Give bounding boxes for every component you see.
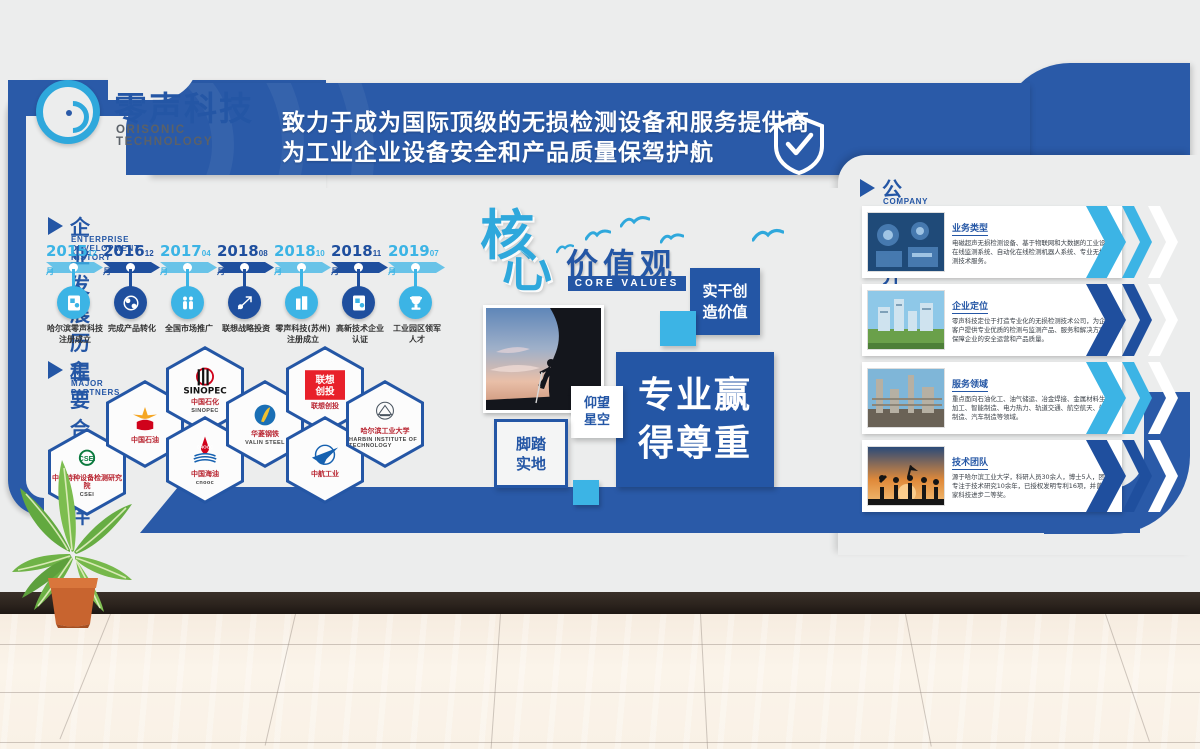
profile-card-heading: 企业定位 — [952, 299, 988, 314]
header-slogan: 致力于成为国际顶级的无损检测设备和服务提供商 为工业企业设备安全和产品质量保驾护… — [282, 108, 810, 168]
timeline-item: 201907月工业园区领军人才 — [388, 243, 445, 279]
gear-cycle-icon — [114, 286, 147, 319]
value-box-jiaota: 脚踏实地 — [494, 419, 568, 488]
svg-text:创投: 创投 — [314, 386, 335, 398]
value-box-zhuanye: 专业赢得尊重 — [616, 352, 774, 487]
value-box-jiaota-text: 脚踏实地 — [516, 434, 546, 474]
value-box-yangwang-text: 仰望星空 — [584, 395, 610, 429]
profile-card-heading: 技术团队 — [952, 455, 988, 470]
value-box-yangwang: 仰望星空 — [571, 386, 623, 438]
bird-icon — [660, 232, 684, 245]
timeline-item: 201612月完成产品转化 — [103, 243, 160, 279]
growth-arrow-icon — [228, 286, 261, 319]
slogan-line-1: 致力于成为国际顶级的无损检测设备和服务提供商 — [282, 108, 810, 138]
partner-name-en: VALIN STEEL — [245, 440, 285, 446]
profile-card-body: 重点面向石油化工、油气储运、冶金焊接、金属材料生产加工、智能制造、电力热力、轨道… — [952, 395, 1117, 422]
timeline-item: 201811月高新技术企业认证 — [331, 243, 388, 279]
profile-card-body: 电磁超声无损检测设备、基于物联网和大数据的工业设施在线监测系统、自动化在线检测机… — [952, 239, 1117, 266]
partner-name-en: HARBIN INSTITUTE OF TECHNOLOGY — [349, 437, 421, 449]
slogan-line-2: 为工业企业设备安全和产品质量保驾护航 — [282, 138, 810, 168]
timeline-label: 工业园区领军人才 — [380, 323, 454, 345]
bird-icon — [585, 228, 611, 242]
timeline-item: 201808月联想战略投资 — [217, 243, 274, 279]
cyan-square-upper — [660, 311, 696, 346]
potted-plant — [8, 432, 138, 628]
core-values-char-xin: 心 — [502, 244, 552, 294]
sonic-wave-circle-icon — [36, 80, 100, 144]
certificate-icon — [342, 286, 375, 319]
city-skyline-photo — [867, 290, 945, 350]
baseboard — [0, 592, 1200, 614]
bird-icon — [556, 243, 574, 254]
svg-text:联想: 联想 — [315, 374, 335, 386]
profile-card-text: 业务类型电磁超声无损检测设备、基于物联网和大数据的工业设施在线监测系统、自动化在… — [945, 218, 1117, 266]
profile-card-body: 零声科技定位于打造专业化的无损检测技术公司，为企业客户提供专业优质的检测与监测产… — [952, 317, 1117, 344]
refinery-photo — [867, 368, 945, 428]
partner-name-cn: 联想创投 — [311, 402, 339, 410]
value-box-shigan: 实干创造价值 — [690, 268, 760, 335]
partner-name-cn: 华菱钢铁 — [251, 430, 279, 438]
svg-text:SINOPEC: SINOPEC — [183, 386, 226, 396]
logo-name-en: ORISONIC TECHNOLOGY — [116, 124, 266, 148]
profile-card-text: 企业定位零声科技定位于打造专业化的无损检测技术公司，为企业客户提供专业优质的检测… — [945, 296, 1117, 344]
profile-card-text: 服务领域重点面向石油化工、油气储运、冶金焊接、金属材料生产加工、智能制造、电力热… — [945, 374, 1117, 422]
core-values-title-en: CORE VALUES — [568, 276, 686, 291]
partner-name-en: cnooc — [196, 480, 214, 486]
timeline-item: 201512月哈尔滨零声科技注册成立 — [46, 243, 103, 279]
partner-name-cn: 中国石化 — [191, 398, 219, 406]
profile-card[interactable]: 服务领域重点面向石油化工、油气储运、冶金焊接、金属材料生产加工、智能制造、电力热… — [862, 362, 1122, 434]
floor-sheen — [0, 614, 1200, 749]
value-box-shigan-text: 实干创造价值 — [702, 281, 747, 323]
svg-text:CNOOC: CNOOC — [197, 444, 215, 449]
profile-card-heading: 业务类型 — [952, 221, 988, 236]
team-silhouette-photo — [867, 446, 945, 506]
building-icon — [285, 286, 318, 319]
timeline: 201512月哈尔滨零声科技注册成立201612月完成产品转化201704月全国… — [46, 243, 446, 338]
partner-name-cn: 中国海油 — [191, 470, 219, 478]
partner-name-cn: 中航工业 — [311, 470, 339, 478]
bird-icon — [620, 214, 650, 229]
timeline-item: 201704月全国市场推广 — [160, 243, 217, 279]
profile-card[interactable]: 企业定位零声科技定位于打造专业化的无损检测技术公司，为企业客户提供专业优质的检测… — [862, 284, 1122, 356]
people-icon — [171, 286, 204, 319]
partner-name-en: SINOPEC — [191, 408, 219, 414]
hit-emblem-icon: 哈尔滨工业大学HARBIN INSTITUTE OF TECHNOLOGY — [349, 384, 421, 465]
value-box-zhuanye-text: 专业赢得尊重 — [638, 372, 752, 468]
core-values-title: 核 心 价值观 CORE VALUES — [480, 208, 680, 290]
profile-card[interactable]: 技术团队源于哈尔滨工业大学，科研人员30余人，博士5人，团队专注于技术研究10余… — [862, 440, 1122, 512]
bird-icon — [752, 227, 784, 243]
play-triangle-icon — [860, 179, 875, 197]
trophy-icon — [399, 286, 432, 319]
profile-card-heading: 服务领域 — [952, 377, 988, 392]
play-triangle-icon — [48, 217, 63, 235]
shield-check-icon — [772, 114, 826, 176]
profile-card[interactable]: 业务类型电磁超声无损检测设备、基于物联网和大数据的工业设施在线监测系统、自动化在… — [862, 206, 1122, 278]
logo-name-cn: 零声科技 — [114, 82, 254, 130]
industrial-equipment-photo — [867, 212, 945, 272]
timeline-item: 201810月零声科技(苏州)注册成立 — [274, 243, 331, 279]
wall-mural-scene: 零声科技 ORISONIC TECHNOLOGY 致力于成为国际顶级的无损检测设… — [0, 0, 1200, 749]
partner-name-cn: 哈尔滨工业大学 — [361, 427, 410, 435]
cyan-square-lower — [573, 480, 599, 505]
floor — [0, 614, 1200, 749]
profile-card-text: 技术团队源于哈尔滨工业大学，科研人员30余人，博士5人，团队专注于技术研究10余… — [945, 452, 1117, 500]
profile-card-body: 源于哈尔滨工业大学，科研人员30余人，博士5人，团队专注于技术研究10余年，已授… — [952, 473, 1117, 500]
company-logo: 零声科技 ORISONIC TECHNOLOGY — [36, 78, 266, 150]
certificate-icon — [57, 286, 90, 319]
